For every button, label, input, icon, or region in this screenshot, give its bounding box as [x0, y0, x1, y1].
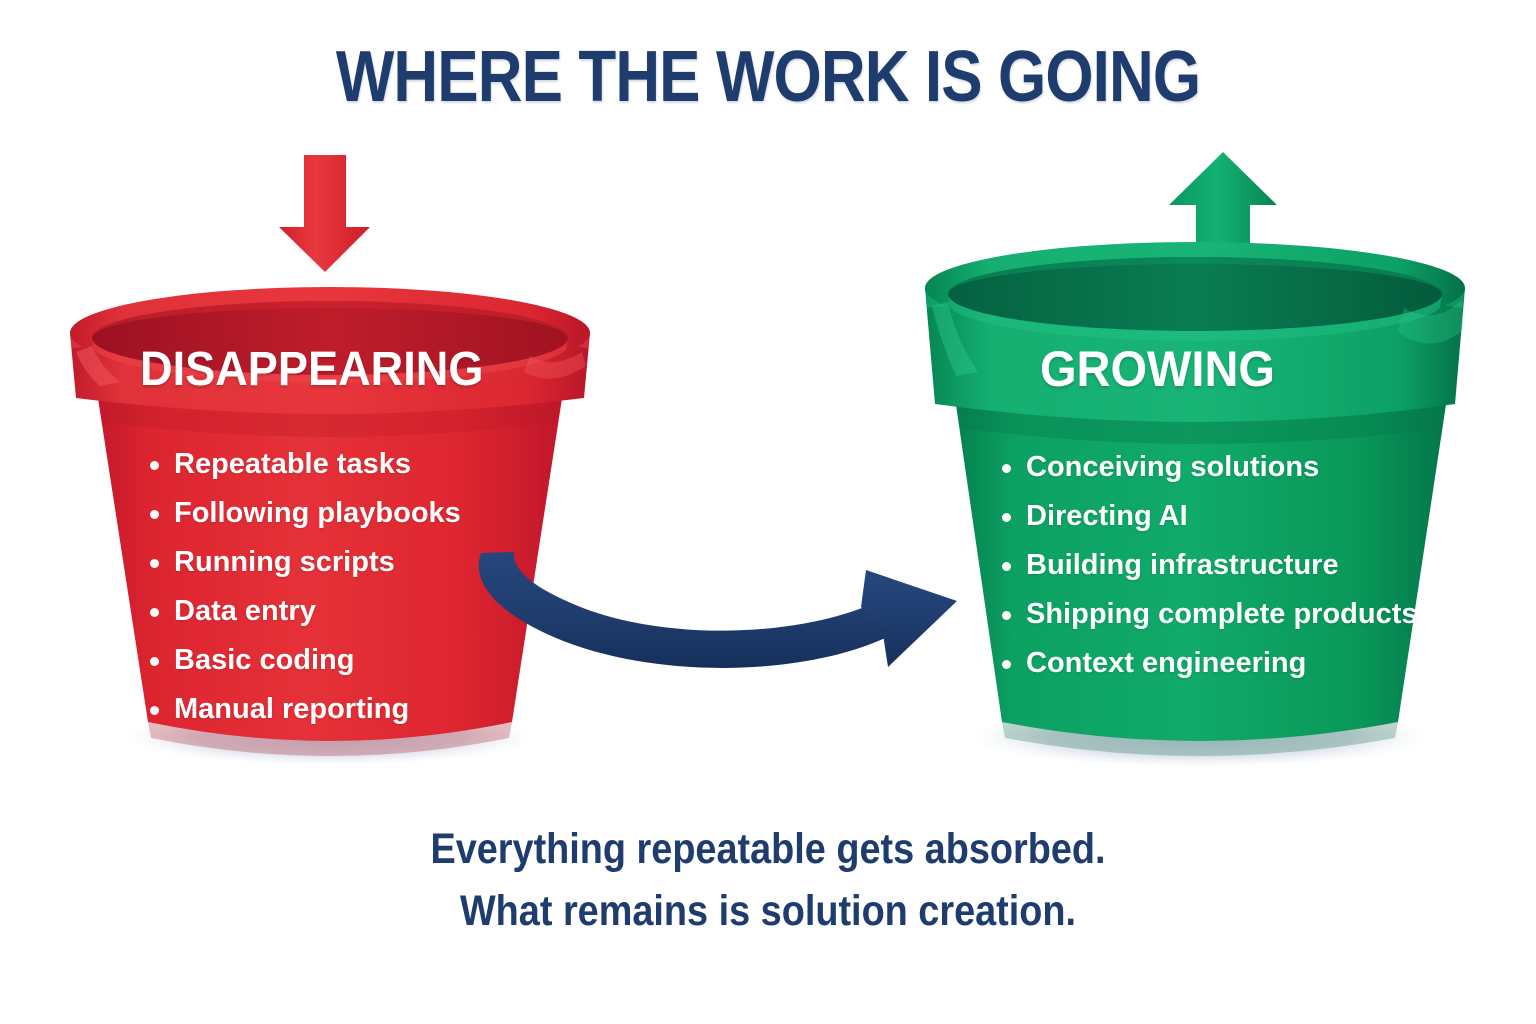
navy-curved-transfer-arrow	[479, 552, 957, 668]
list-item-label: Shipping complete products	[1026, 598, 1418, 630]
list-item: Basic coding	[148, 636, 461, 685]
bucket-heading-disappearing: DISAPPEARING	[140, 342, 483, 397]
page-title: WHERE THE WORK IS GOING	[108, 36, 1429, 118]
footer-line-2: What remains is solution creation.	[92, 880, 1444, 942]
bullet-icon	[150, 608, 159, 617]
bucket-heading-growing: GROWING	[1040, 340, 1275, 398]
list-item: Running scripts	[148, 538, 461, 587]
list-item-label: Context engineering	[1026, 647, 1306, 679]
list-item-label: Directing AI	[1026, 500, 1188, 532]
list-item-label: Manual reporting	[174, 693, 409, 725]
infographic-canvas: WHERE THE WORK IS GOING DISAPPEARING GRO…	[0, 0, 1536, 1024]
growing-item-list: Conceiving solutions Directing AI Buildi…	[1000, 443, 1418, 688]
list-item: Data entry	[148, 587, 461, 636]
bullet-icon	[150, 706, 159, 715]
bullet-icon	[1002, 660, 1011, 669]
bullet-icon	[1002, 464, 1011, 473]
list-item: Shipping complete products	[1000, 590, 1418, 639]
list-item-label: Following playbooks	[174, 497, 461, 529]
bullet-icon	[1002, 513, 1011, 522]
list-item-label: Basic coding	[174, 644, 355, 676]
list-item-label: Running scripts	[174, 546, 395, 578]
list-item: Building infrastructure	[1000, 541, 1418, 590]
footer-caption: Everything repeatable gets absorbed. Wha…	[92, 818, 1444, 942]
list-item: Repeatable tasks	[148, 440, 461, 489]
list-item-label: Data entry	[174, 595, 316, 627]
footer-line-1: Everything repeatable gets absorbed.	[92, 818, 1444, 880]
list-item: Manual reporting	[148, 685, 461, 734]
list-item-label: Building infrastructure	[1026, 549, 1339, 581]
list-item: Conceiving solutions	[1000, 443, 1418, 492]
bullet-icon	[1002, 562, 1011, 571]
bullet-icon	[150, 510, 159, 519]
bullet-icon	[150, 559, 159, 568]
red-down-arrow	[279, 155, 370, 272]
list-item: Context engineering	[1000, 639, 1418, 688]
list-item-label: Conceiving solutions	[1026, 451, 1319, 483]
bullet-icon	[150, 657, 159, 666]
disappearing-item-list: Repeatable tasks Following playbooks Run…	[148, 440, 461, 734]
list-item: Following playbooks	[148, 489, 461, 538]
list-item: Directing AI	[1000, 492, 1418, 541]
bullet-icon	[150, 461, 159, 470]
bullet-icon	[1002, 611, 1011, 620]
list-item-label: Repeatable tasks	[174, 448, 411, 480]
